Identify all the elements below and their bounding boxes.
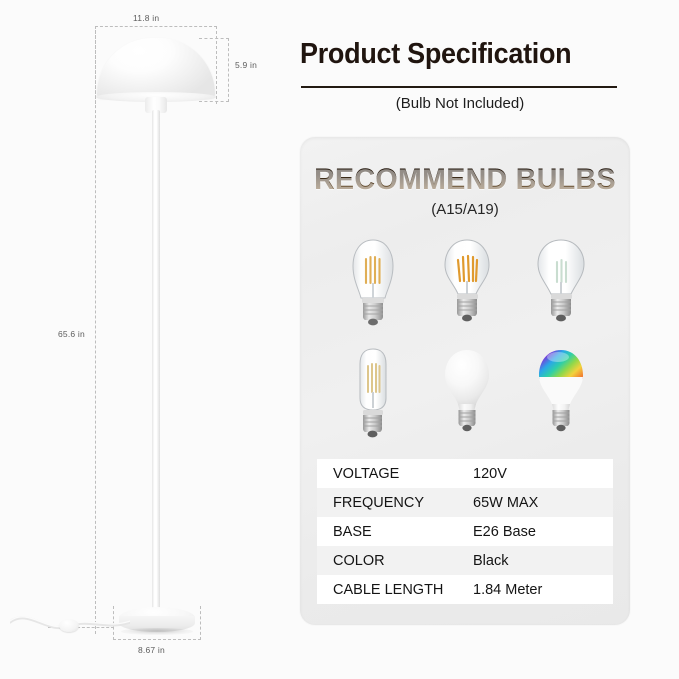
bulb-grid — [326, 233, 608, 453]
bulb-st64-edison-filament-bulb — [326, 233, 420, 343]
lamp-dimension-diagram: 11.8 in 5.9 in 65.6 in 8.67 in — [0, 0, 290, 679]
bulb-t45-tubular-filament-bulb — [326, 343, 420, 453]
shade-top-tick — [199, 38, 229, 39]
product-spec-image: 11.8 in 5.9 in 65.6 in 8.67 in Product S… — [0, 0, 679, 679]
base-width-label: 8.67 in — [136, 645, 167, 655]
spec-panel: Product Specification (Bulb Not Included… — [290, 0, 679, 679]
shade-height-dim-line — [228, 38, 229, 102]
table-row: COLOR Black — [317, 546, 613, 575]
title-underline — [301, 86, 617, 88]
lamp-pole — [152, 110, 160, 620]
table-row: BASE E26 Base — [317, 517, 613, 546]
page-title: Product Specification — [300, 38, 607, 71]
spec-value: 65W MAX — [473, 495, 613, 511]
spec-value: E26 Base — [473, 524, 613, 540]
spec-value: 1.84 Meter — [473, 582, 613, 598]
total-height-dim-line — [95, 30, 96, 634]
lamp-base-shadow — [121, 628, 193, 635]
table-row: CABLE LENGTH 1.84 Meter — [317, 575, 613, 604]
card-title: RECOMMEND BULBS — [308, 163, 622, 197]
spec-label: BASE — [317, 524, 473, 540]
card-subtitle: (A15/A19) — [300, 201, 630, 218]
spec-label: CABLE LENGTH — [317, 582, 473, 598]
bulb-a19-frosted-led-bulb — [420, 343, 514, 453]
lamp-shade-dome — [97, 38, 215, 98]
total-height-label: 65.6 in — [56, 329, 87, 339]
table-row: VOLTAGE 120V — [317, 459, 613, 488]
spec-value: 120V — [473, 466, 613, 482]
page-subtitle: (Bulb Not Included) — [301, 95, 619, 112]
base-right-dim-line — [200, 606, 201, 640]
recommend-bulbs-card: RECOMMEND BULBS (A15/A19) — [300, 137, 630, 625]
bulb-rgb-smart-led-bulb — [514, 343, 608, 453]
spec-label: COLOR — [317, 553, 473, 569]
shade-width-label: 11.8 in — [131, 13, 161, 23]
spec-value: Black — [473, 553, 613, 569]
foot-switch — [59, 619, 79, 632]
table-row: FREQUENCY 65W MAX — [317, 488, 613, 517]
shade-height-label: 5.9 in — [233, 60, 259, 70]
shade-bottom-tick — [199, 101, 229, 102]
spec-table: VOLTAGE 120V FREQUENCY 65W MAX BASE E26 … — [317, 459, 613, 604]
shade-width-dim-line — [95, 26, 217, 27]
bulb-g25-globe-filament-bulb — [514, 233, 608, 343]
bulb-a19-filament-bulb — [420, 233, 514, 343]
spec-label: FREQUENCY — [317, 495, 473, 511]
spec-label: VOLTAGE — [317, 466, 473, 482]
